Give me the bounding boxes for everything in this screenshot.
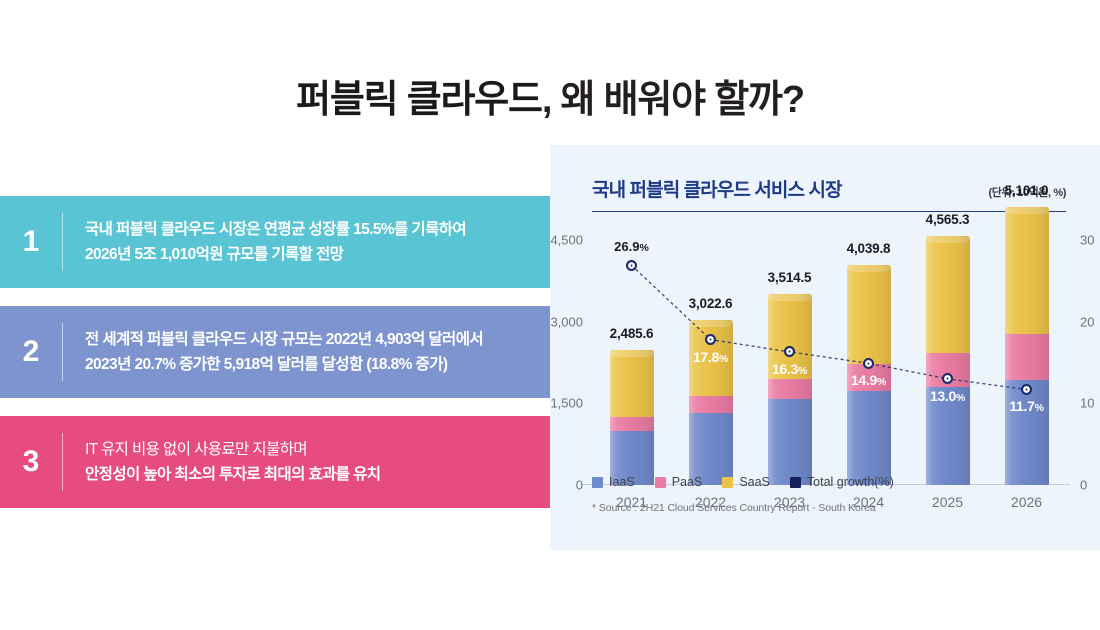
- growth-label: 13.0%: [930, 388, 965, 404]
- page-title-rest: , 왜 배워야 할까?: [542, 79, 804, 121]
- card-divider: [62, 323, 63, 381]
- key-point-card-2: 2전 세계적 퍼블릭 클라우드 시장 규모는 2022년 4,903억 달러에서…: [0, 306, 550, 398]
- legend-swatch: [722, 477, 733, 488]
- growth-label: 14.9%: [851, 372, 886, 388]
- legend-label: PaaS: [672, 475, 703, 489]
- bar-segment-iaas[interactable]: [1005, 380, 1049, 485]
- chart-title: 국내 퍼블릭 클라우드 서비스 시장: [592, 175, 842, 202]
- bar-total-label: 2,485.6: [610, 326, 654, 341]
- bar-segment-iaas[interactable]: [847, 391, 891, 485]
- legend-swatch: [592, 477, 603, 488]
- bar-segment-iaas[interactable]: [768, 399, 812, 485]
- bar-total-label: 4,565.3: [926, 212, 970, 227]
- card-text: 전 세계적 퍼블릭 클라우드 시장 규모는 2022년 4,903억 달러에서2…: [85, 327, 483, 377]
- bar-segment-saas[interactable]: [610, 350, 654, 418]
- y-axis-left-tick: 3,000: [550, 314, 583, 329]
- bar-segment-paas[interactable]: [768, 379, 812, 399]
- page-title-highlight: 퍼블릭 클라우드: [296, 79, 542, 121]
- bar-segment-saas[interactable]: [1005, 207, 1049, 334]
- bar-gloss: [610, 350, 654, 357]
- stacked-bar[interactable]: [689, 320, 733, 485]
- key-point-card-3: 3IT 유지 비용 없이 사용료만 지불하며안정성이 높아 최소의 투자로 최대…: [0, 416, 550, 508]
- legend-item-iaas[interactable]: IaaS: [592, 475, 635, 489]
- card-line-1: IT 유지 비용 없이 사용료만 지불하며: [85, 437, 380, 462]
- y-axis-right-tick: 20: [1080, 314, 1094, 329]
- bar-total-label: 5,101.0: [1005, 183, 1049, 198]
- card-divider: [62, 433, 63, 491]
- growth-label: 16.3%: [772, 361, 807, 377]
- bar-group: 2,485.626.9%3,022.617.8%3,514.516.3%4,03…: [592, 240, 1066, 485]
- legend-item-totalgrowth[interactable]: Total growth(%): [790, 475, 894, 489]
- chart-legend: IaaSPaaSSaaSTotal growth(%): [592, 475, 894, 489]
- chart-plot-area: 2,485.626.9%3,022.617.8%3,514.516.3%4,03…: [592, 240, 1066, 485]
- legend-label: Total growth(%): [807, 475, 894, 489]
- stacked-bar[interactable]: [768, 294, 812, 485]
- bar-column-2022: 3,022.617.8%: [671, 240, 750, 485]
- card-line-1: 국내 퍼블릭 클라우드 시장은 연평균 성장률 15.5%를 기록하여: [85, 217, 466, 242]
- bar-segment-saas[interactable]: [847, 265, 891, 364]
- bar-segment-paas[interactable]: [1005, 334, 1049, 380]
- card-line-2: 2026년 5조 1,010억원 규모를 기록할 전망: [85, 242, 466, 267]
- bar-column-2021: 2,485.626.9%: [592, 240, 671, 485]
- y-axis-left-tick: 0: [576, 478, 583, 493]
- card-line-1: 전 세계적 퍼블릭 클라우드 시장 규모는 2022년 4,903억 달러에서: [85, 327, 483, 352]
- chart-header: 국내 퍼블릭 클라우드 서비스 시장 (단위: 10억원, %): [592, 175, 1066, 212]
- bar-gloss: [768, 294, 812, 301]
- bar-column-2025: 4,565.313.0%: [908, 240, 987, 485]
- bar-gloss: [847, 265, 891, 272]
- card-text: IT 유지 비용 없이 사용료만 지불하며안정성이 높아 최소의 투자로 최대의…: [85, 437, 380, 487]
- bar-segment-paas[interactable]: [689, 396, 733, 412]
- bar-gloss: [689, 320, 733, 327]
- key-points-list: 1국내 퍼블릭 클라우드 시장은 연평균 성장률 15.5%를 기록하여2026…: [0, 196, 550, 526]
- legend-label: SaaS: [739, 475, 770, 489]
- y-axis-right-tick: 10: [1080, 396, 1094, 411]
- stacked-bar[interactable]: [610, 350, 654, 485]
- card-line-2: 2023년 20.7% 증가한 5,918억 달러를 달성함 (18.8% 증가…: [85, 352, 483, 377]
- legend-item-paas[interactable]: PaaS: [655, 475, 703, 489]
- card-number: 1: [0, 227, 62, 257]
- y-axis-right-tick: 30: [1080, 233, 1094, 248]
- card-text: 국내 퍼블릭 클라우드 시장은 연평균 성장률 15.5%를 기록하여2026년…: [85, 217, 466, 267]
- key-point-card-1: 1국내 퍼블릭 클라우드 시장은 연평균 성장률 15.5%를 기록하여2026…: [0, 196, 550, 288]
- legend-swatch: [790, 477, 801, 488]
- stacked-bar[interactable]: [926, 236, 970, 485]
- chart-panel: 국내 퍼블릭 클라우드 서비스 시장 (단위: 10억원, %) 2,485.6…: [550, 145, 1100, 550]
- legend-item-saas[interactable]: SaaS: [722, 475, 770, 489]
- x-axis-label: 2025: [908, 494, 987, 510]
- bar-column-2026: 5,101.011.7%: [987, 240, 1066, 485]
- card-line-2: 안정성이 높아 최소의 투자로 최대의 효과를 유치: [85, 462, 380, 487]
- bar-segment-saas[interactable]: [926, 236, 970, 353]
- x-axis-label: 2026: [987, 494, 1066, 510]
- bar-total-label: 3,514.5: [768, 270, 812, 285]
- card-divider: [62, 213, 63, 271]
- stacked-bar[interactable]: [1005, 207, 1049, 485]
- growth-label: 11.7%: [1009, 398, 1043, 414]
- slide-root: 퍼블릭 클라우드, 왜 배워야 할까? 1국내 퍼블릭 클라우드 시장은 연평균…: [0, 0, 1100, 630]
- bar-segment-paas[interactable]: [610, 417, 654, 431]
- bar-gloss: [926, 236, 970, 243]
- bar-column-2023: 3,514.516.3%: [750, 240, 829, 485]
- bar-total-label: 4,039.8: [847, 241, 891, 256]
- y-axis-left-tick: 1,500: [550, 396, 583, 411]
- y-axis-left-tick: 4,500: [550, 233, 583, 248]
- chart-source-note: * Source : 2H21 Cloud Services Country R…: [592, 502, 876, 514]
- bar-gloss: [1005, 207, 1049, 214]
- card-number: 2: [0, 337, 62, 367]
- card-number: 3: [0, 447, 62, 477]
- bar-segment-paas[interactable]: [926, 353, 970, 387]
- growth-label: 17.8%: [693, 349, 728, 365]
- bar-total-label: 3,022.6: [689, 296, 733, 311]
- bar-column-2024: 4,039.814.9%: [829, 240, 908, 485]
- y-axis-right-tick: 0: [1080, 478, 1087, 493]
- legend-swatch: [655, 477, 666, 488]
- page-title: 퍼블릭 클라우드, 왜 배워야 할까?: [0, 68, 1100, 123]
- growth-label: 26.9%: [614, 239, 649, 254]
- legend-label: IaaS: [609, 475, 635, 489]
